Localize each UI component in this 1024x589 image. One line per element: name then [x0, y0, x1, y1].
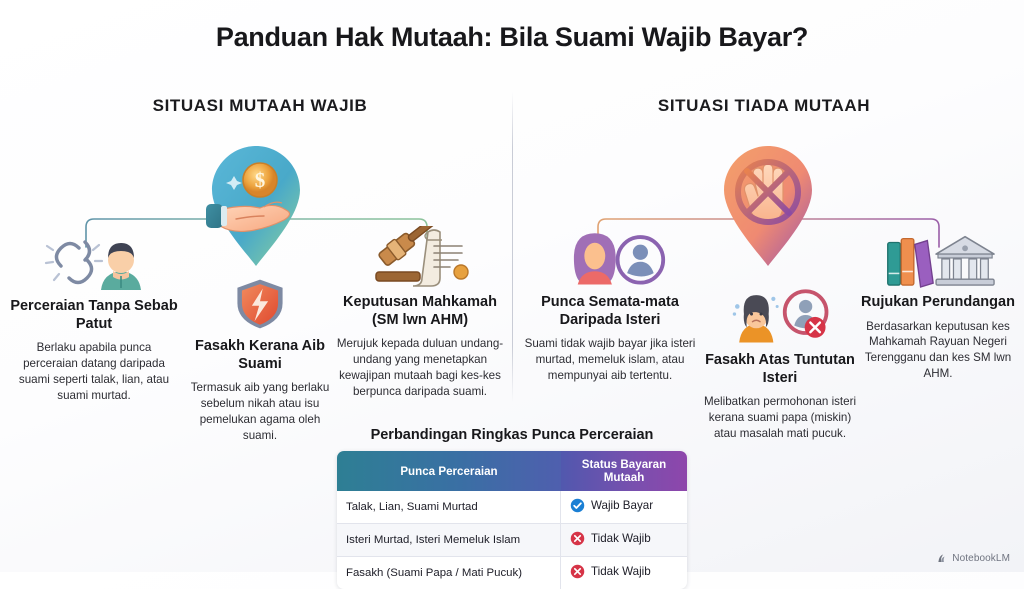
gavel-scroll-icon — [330, 224, 510, 288]
table-column-punca-perceraian: Punca Perceraian — [337, 451, 561, 491]
page-title: Panduan Hak Mutaah: Bila Suami Wajib Bay… — [0, 22, 1024, 53]
section-heading-tiada: SITUASI TIADA MUTAAH — [534, 96, 994, 116]
table-header-row: Punca Perceraian Status Bayaran Mutaah — [337, 451, 687, 491]
no-hand-stop-icon — [708, 140, 828, 272]
card-body: Berdasarkan keputusan kes Mahkamah Rayua… — [852, 319, 1024, 382]
card-punca-semata-mata-daripada-isteri: Punca Semata-mata Daripada Isteri Suami … — [520, 224, 700, 384]
table-cell-status: Tidak Wajib — [561, 524, 687, 557]
card-fasakh-kerana-aib-suami: Fasakh Kerana Aib Suami Termasuk aib yan… — [182, 268, 338, 443]
center-divider — [512, 92, 513, 402]
broken-chain-person-icon — [8, 228, 180, 292]
card-keputusan-mahkamah: Keputusan Mahkamah (SM lwn AHM) Merujuk … — [330, 224, 510, 399]
card-body: Suami tidak wajib bayar jika isteri murt… — [520, 336, 700, 383]
table-cell-cause: Isteri Murtad, Isteri Memeluk Islam — [337, 524, 561, 557]
section-heading-wajib: SITUASI MUTAAH WAJIB — [30, 96, 490, 116]
table-header: Punca Perceraian Status Bayaran Mutaah — [337, 451, 687, 491]
table-title: Perbandingan Ringkas Punca Perceraian — [337, 427, 687, 443]
card-body: Berlaku apabila punca perceraian datang … — [8, 340, 180, 403]
card-body: Melibatkan permohonan isteri kerana suam… — [700, 394, 860, 441]
card-body: Merujuk kepada duluan undang-undang yang… — [330, 336, 510, 399]
card-title: Fasakh Kerana Aib Suami — [182, 338, 338, 373]
hand-holding-coin-icon: $ — [196, 140, 316, 272]
svg-text:$: $ — [255, 168, 266, 192]
status-badge: Tidak Wajib — [570, 531, 651, 546]
card-title: Fasakh Atas Tuntutan Isteri — [700, 352, 860, 387]
law-books-courthouse-icon — [852, 224, 1024, 288]
sad-woman-blocked-person-icon — [700, 282, 860, 346]
table-row: Isteri Murtad, Isteri Memeluk Islam Tida… — [337, 524, 687, 557]
comparison-table-section: Perbandingan Ringkas Punca Perceraian Pu… — [337, 427, 687, 589]
card-perceraian-tanpa-sebab-patut: Perceraian Tanpa Sebab Patut Berlaku apa… — [8, 228, 180, 403]
table-row: Fasakh (Suami Papa / Mati Pucuk) Tidak W… — [337, 557, 687, 589]
card-rujukan-perundangan: Rujukan Perundangan Berdasarkan keputusa… — [852, 224, 1024, 382]
status-badge: Wajib Bayar — [570, 498, 653, 513]
status-label: Tidak Wajib — [591, 532, 651, 545]
table-column-status-bayaran: Status Bayaran Mutaah — [561, 451, 687, 491]
check-circle-icon — [570, 498, 585, 513]
card-body: Termasuk aib yang berlaku sebelum nikah … — [182, 380, 338, 443]
woman-hijab-profile-icon — [520, 224, 700, 288]
infographic-page: Panduan Hak Mutaah: Bila Suami Wajib Bay… — [0, 0, 1024, 572]
card-fasakh-atas-tuntutan-isteri: Fasakh Atas Tuntutan Isteri Melibatkan p… — [700, 282, 860, 442]
card-title: Punca Semata-mata Daripada Isteri — [520, 294, 700, 329]
notebooklm-watermark: NotebookLM — [937, 553, 1010, 564]
table-cell-cause: Talak, Lian, Suami Murtad — [337, 491, 561, 524]
status-label: Wajib Bayar — [591, 499, 653, 512]
watermark-label: NotebookLM — [952, 553, 1010, 564]
card-title: Perceraian Tanpa Sebab Patut — [8, 298, 180, 333]
x-circle-icon — [570, 531, 585, 546]
notebooklm-logo-icon — [937, 553, 948, 564]
table-cell-status: Wajib Bayar — [561, 491, 687, 524]
shield-crack-icon — [182, 268, 338, 332]
card-title: Keputusan Mahkamah (SM lwn AHM) — [330, 294, 510, 329]
comparison-table: Punca Perceraian Status Bayaran Mutaah T… — [337, 451, 687, 589]
card-title: Rujukan Perundangan — [852, 294, 1024, 312]
table-cell-status: Tidak Wajib — [561, 557, 687, 589]
table-cell-cause: Fasakh (Suami Papa / Mati Pucuk) — [337, 557, 561, 589]
table-body: Talak, Lian, Suami Murtad Wajib Bayar Is… — [337, 491, 687, 589]
table-row: Talak, Lian, Suami Murtad Wajib Bayar — [337, 491, 687, 524]
